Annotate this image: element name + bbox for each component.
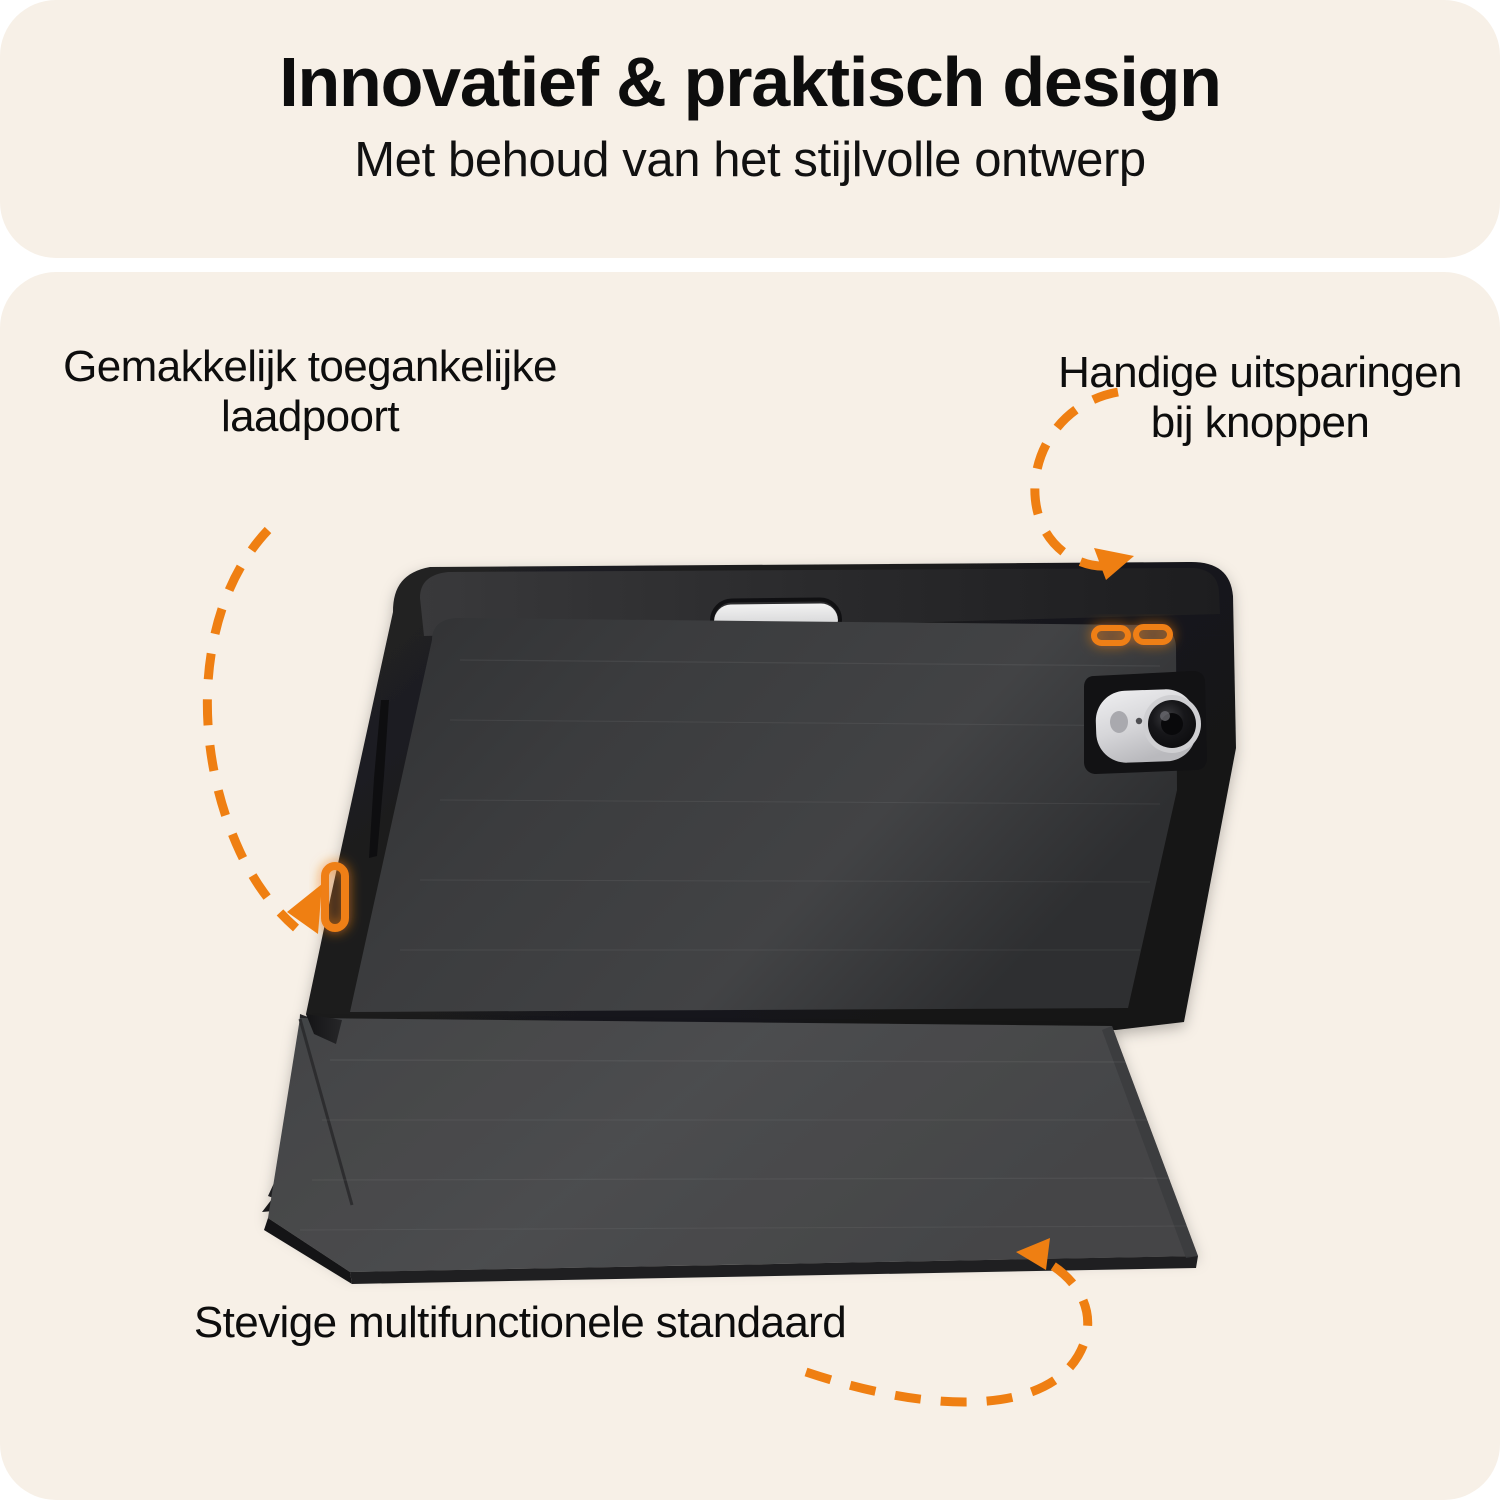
product-illustration: [0, 0, 1500, 1500]
camera-module: [1095, 688, 1201, 763]
callout-label-button-cutouts: Handige uitsparingen bij knoppen: [1040, 348, 1480, 448]
camera-flash: [1110, 711, 1128, 733]
infographic-stage: Innovatief & praktisch design Met behoud…: [0, 0, 1500, 1500]
camera-microphone: [1136, 718, 1142, 724]
callout-label-charging-port: Gemakkelijk toegankelijke laadpoort: [60, 342, 560, 442]
callout-label-stand: Stevige multifunctionele standaard: [150, 1298, 890, 1348]
stand-front-face: [268, 1018, 1198, 1272]
tablet-back-panel: [350, 618, 1177, 1012]
camera-lens-glint: [1160, 711, 1170, 721]
